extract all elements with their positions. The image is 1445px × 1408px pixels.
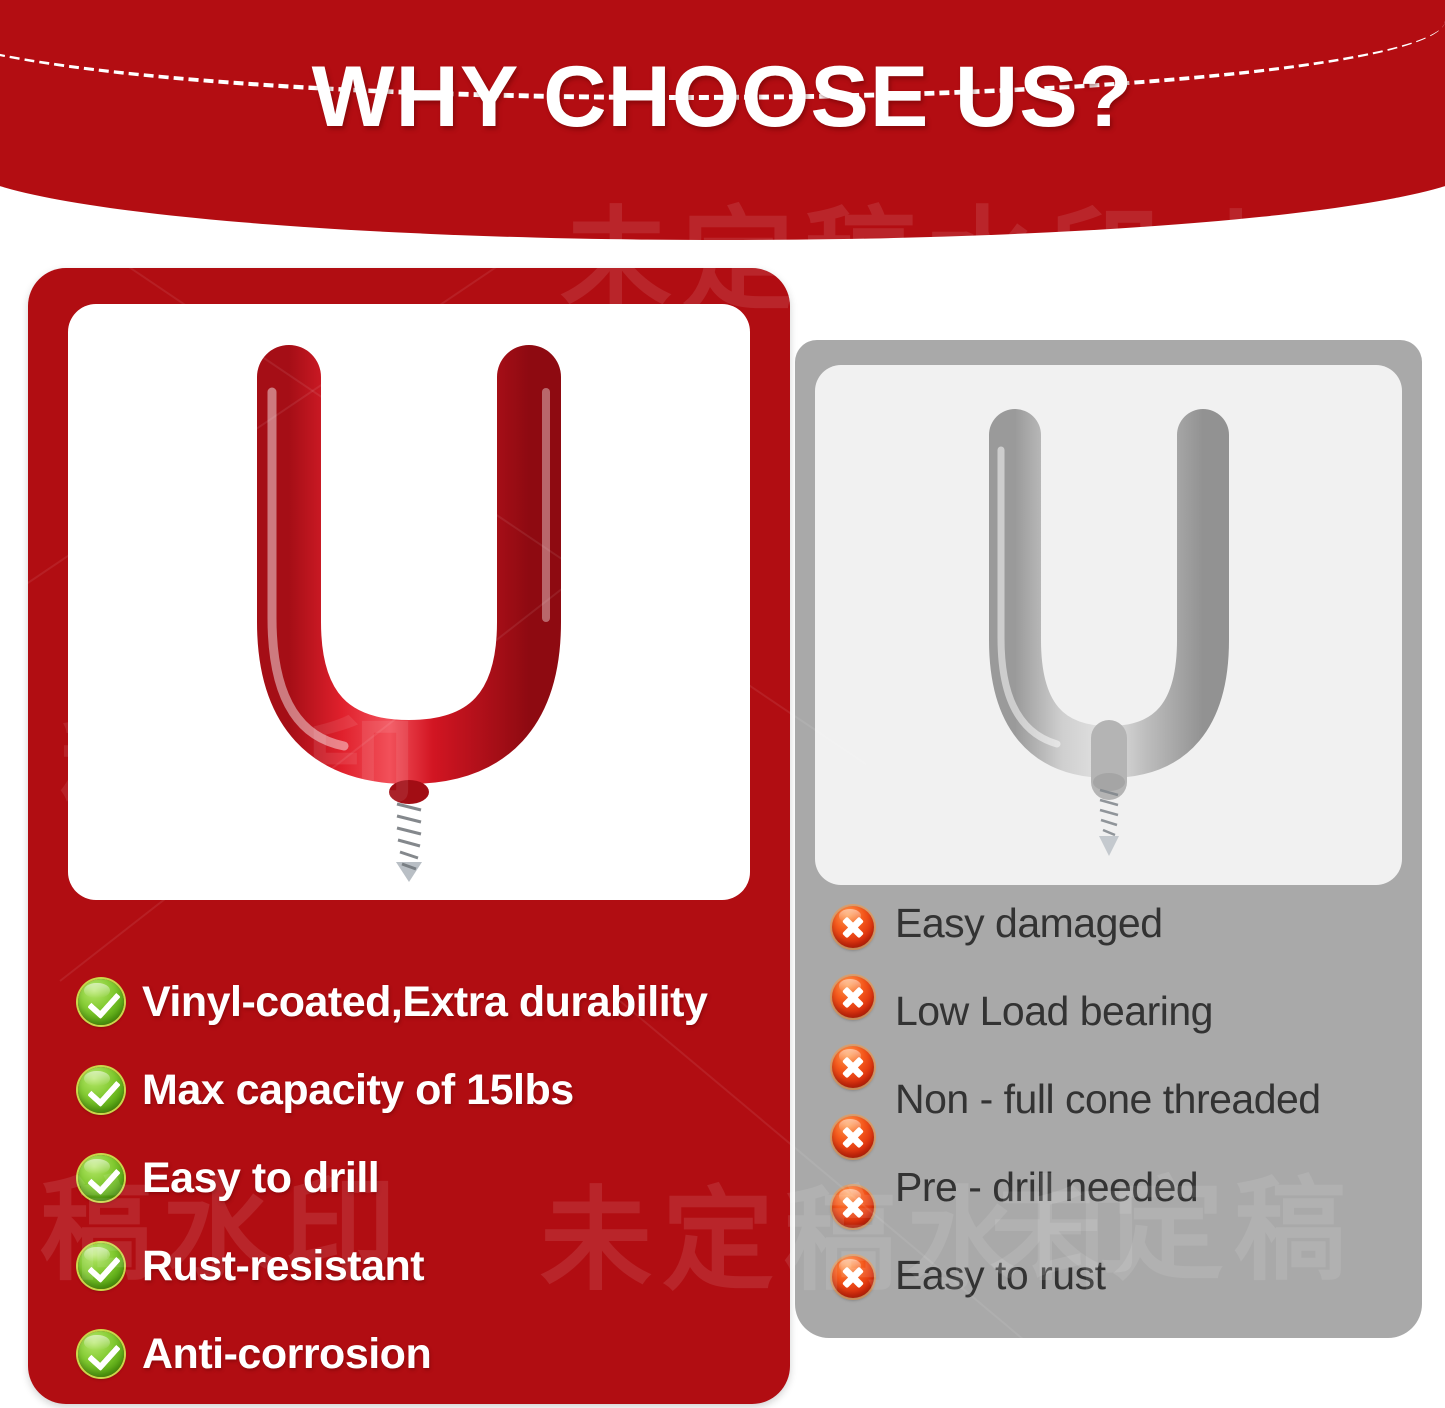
- feature-label: Rust-resistant: [142, 1242, 424, 1291]
- feature-row: Max capacity of 15lbs: [78, 1046, 778, 1134]
- drawback-label: Pre - drill needed: [895, 1164, 1198, 1211]
- infographic-page: WHY CHOOSE US?: [0, 0, 1445, 1408]
- check-icon: [78, 979, 124, 1025]
- cross-icon: [832, 1046, 874, 1088]
- drawback-label: Non - full cone threaded: [895, 1076, 1321, 1123]
- feature-row: Rust-resistant: [78, 1222, 778, 1310]
- u-hook-icon: [929, 390, 1289, 860]
- drawback-label: Low Load bearing: [895, 988, 1213, 1035]
- feature-row: Easy to drill: [78, 1134, 778, 1222]
- bad-product-image-card: [815, 365, 1402, 885]
- u-hook-icon: [194, 322, 624, 882]
- page-title: WHY CHOOSE US?: [0, 48, 1445, 147]
- drawback-label: Easy damaged: [895, 900, 1163, 947]
- feature-row: Vinyl-coated,Extra durability: [78, 958, 778, 1046]
- feature-label: Vinyl-coated,Extra durability: [142, 978, 707, 1027]
- check-icon: [78, 1155, 124, 1201]
- cross-icon: [832, 1116, 874, 1158]
- cross-icon: [832, 1256, 874, 1298]
- feature-label: Max capacity of 15lbs: [142, 1066, 574, 1115]
- cross-icon: [832, 976, 874, 1018]
- cross-icon: [832, 906, 874, 948]
- feature-row: Anti-corrosion: [78, 1310, 778, 1398]
- gray-hook-illustration: [815, 365, 1402, 885]
- check-icon: [78, 1067, 124, 1113]
- good-feature-list: Vinyl-coated,Extra durability Max capaci…: [78, 958, 778, 1398]
- feature-label: Easy to drill: [142, 1154, 379, 1203]
- good-product-panel: Vinyl-coated,Extra durability Max capaci…: [28, 268, 790, 1404]
- good-product-image-card: [68, 304, 750, 900]
- check-icon: [78, 1243, 124, 1289]
- red-hook-illustration: [68, 304, 750, 900]
- feature-label: Anti-corrosion: [142, 1330, 431, 1379]
- cross-icon: [832, 1186, 874, 1228]
- drawback-label: Easy to rust: [895, 1252, 1105, 1299]
- check-icon: [78, 1331, 124, 1377]
